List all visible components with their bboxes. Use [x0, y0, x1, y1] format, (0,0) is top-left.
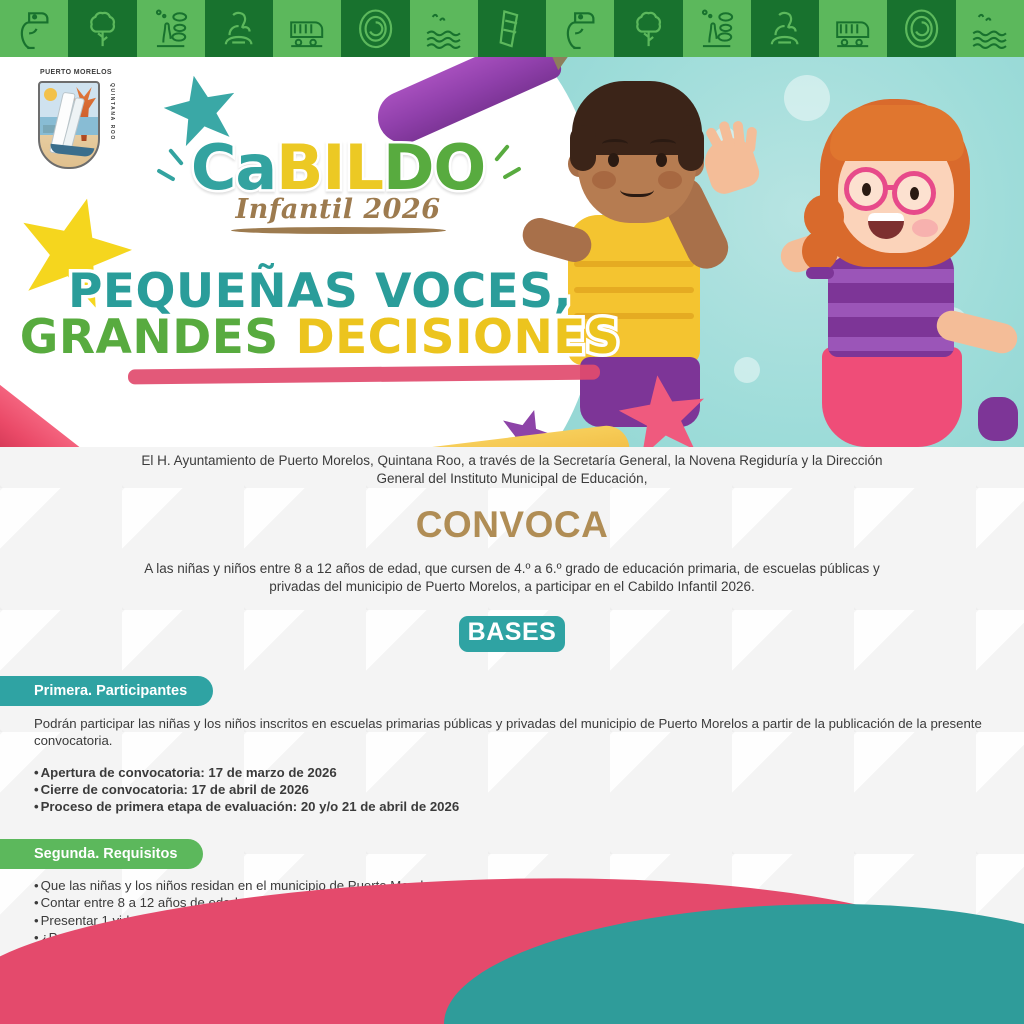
girl-cheek: [912, 219, 938, 237]
subintro-paragraph: A las niñas y niños entre 8 a 12 años de…: [132, 560, 892, 596]
logo-underline: [231, 227, 446, 234]
toucan-icon: [0, 0, 68, 57]
girl-skirt: [822, 347, 962, 447]
boy-smile: [620, 179, 654, 197]
convoca-title: CONVOCA: [0, 504, 1024, 546]
poster-canvas: PUERTO MORELOS QUINTANA ROO CaBILDO Infa…: [0, 0, 1024, 1024]
headline: PEQUEÑAS VOCES, GRANDES DECISIONES: [0, 269, 640, 361]
pink-crayon-decor: [0, 360, 133, 447]
list-item: Apertura de convocatoria: 17 de marzo de…: [34, 764, 1024, 781]
sun-icon: [44, 88, 57, 101]
headline-line-2: GRANDES DECISIONES: [0, 315, 640, 361]
girl-character: [764, 85, 1024, 447]
train-icon: [273, 0, 341, 57]
hero-banner: PUERTO MORELOS QUINTANA ROO CaBILDO Infa…: [0, 57, 1024, 447]
cenote-spiral-icon: [341, 0, 409, 57]
boy-finger: [745, 127, 758, 154]
coat-of-arms-side-label: QUINTANA ROO: [109, 83, 115, 141]
cenote-spiral-icon: [887, 0, 955, 57]
coral-fish-icon: [683, 0, 751, 57]
toucan-icon: [546, 0, 614, 57]
coat-of-arms: PUERTO MORELOS QUINTANA ROO: [36, 69, 114, 173]
boy-finger: [732, 121, 745, 152]
cabildo-logo: CaBILDO Infantil 2026: [188, 139, 488, 234]
mayan-head-icon: [751, 0, 819, 57]
birds-water-icon: [956, 0, 1024, 57]
logo-part-ca: Ca: [191, 131, 276, 204]
boy-hair: [678, 125, 704, 171]
cabildo-logo-wordmark: CaBILDO: [188, 139, 488, 198]
logo-part-do: DO: [383, 131, 485, 204]
boy-brow: [602, 139, 628, 149]
top-icon-strip: [0, 0, 1024, 57]
coat-of-arms-shield: [38, 81, 100, 169]
list-item: Proceso de primera etapa de evaluación: …: [34, 798, 1024, 815]
girl-eye: [910, 187, 919, 200]
girl-glasses-bridge: [886, 185, 896, 190]
lighthouse-icon: [478, 0, 546, 57]
boat-hull: [50, 144, 95, 158]
boy-shirt-stripe: [574, 261, 694, 267]
girl-teeth: [868, 213, 904, 221]
sparkle-decor: [168, 148, 184, 166]
girl-eye: [862, 183, 871, 196]
tree-icon: [614, 0, 682, 57]
boy-eye: [656, 153, 667, 167]
list-item: Cierre de convocatoria: 17 de abril de 2…: [34, 781, 1024, 798]
coat-of-arms-top-label: PUERTO MORELOS: [40, 69, 112, 76]
section-primera-paragraph: Podrán participar las niñas y los niños …: [34, 716, 990, 750]
coral-fish-icon: [137, 0, 205, 57]
bases-badge: BASES: [459, 616, 565, 652]
headline-grandes: GRANDES: [20, 310, 296, 365]
sparkle-decor: [156, 168, 175, 181]
section-badge-segunda: Segunda. Requisitos: [0, 839, 203, 869]
section-primera-dates: Apertura de convocatoria: 17 de marzo de…: [34, 764, 1024, 815]
girl-hair-tie: [806, 267, 834, 279]
girl-shirt-stripe: [828, 269, 954, 283]
girl-shirt-stripe: [828, 337, 954, 351]
section-badge-primera: Primera. Participantes: [0, 676, 213, 706]
headline-line-1: PEQUEÑAS VOCES,: [0, 269, 640, 315]
headline-decisiones: DECISIONES: [296, 310, 621, 365]
boy-cheek: [658, 171, 682, 189]
train-icon: [819, 0, 887, 57]
section-primera: Primera. Participantes Podrán participar…: [0, 652, 1024, 815]
girl-shirt-stripe: [828, 303, 954, 317]
boy-cheek: [592, 171, 616, 189]
girl-fringe: [830, 105, 964, 161]
tree-icon: [68, 0, 136, 57]
birds-water-icon: [410, 0, 478, 57]
girl-shoe: [978, 397, 1018, 441]
boy-eye: [608, 153, 619, 167]
children-illustration: [464, 57, 1024, 447]
boy-hair: [570, 125, 596, 171]
mayan-head-icon: [205, 0, 273, 57]
girl-braid: [802, 231, 838, 271]
intro-paragraph: El H. Ayuntamiento de Puerto Morelos, Qu…: [132, 452, 892, 488]
boy-brow: [650, 139, 676, 149]
logo-part-bil: BIL: [276, 131, 383, 204]
